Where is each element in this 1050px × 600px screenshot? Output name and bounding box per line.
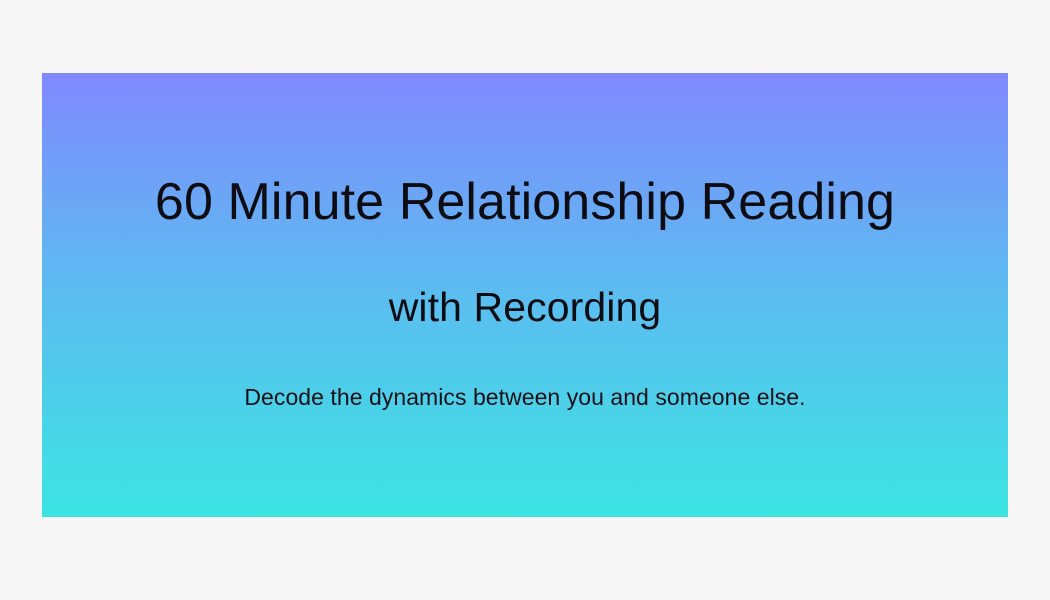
hero-title-line-2: with Recording [42, 287, 1008, 328]
hero-subtitle: Decode the dynamics between you and some… [42, 386, 1008, 409]
hero-banner: 60 Minute Relationship Reading with Reco… [42, 73, 1008, 517]
hero-title-line-1: 60 Minute Relationship Reading [42, 176, 1008, 228]
page-root: 60 Minute Relationship Reading with Reco… [0, 0, 1050, 600]
